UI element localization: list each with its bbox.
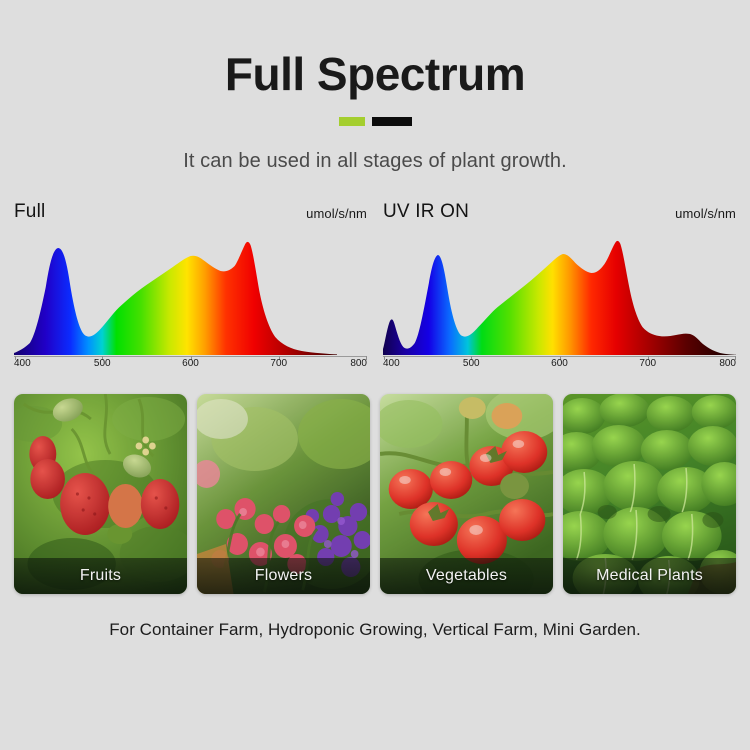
axis-tick-800: 800: [719, 358, 736, 369]
chart-header: UV IR ON umol/s/nm: [383, 201, 736, 227]
spectrum-chart-full: Full umol/s/nm: [14, 201, 367, 372]
divider-black-bar: [372, 117, 412, 126]
footer-text: For Container Farm, Hydroponic Growing, …: [0, 620, 750, 640]
divider-green-bar: [339, 117, 365, 126]
chart-header: Full umol/s/nm: [14, 201, 367, 227]
spectrum-charts: Full umol/s/nm: [0, 201, 750, 372]
chart-title: UV IR ON: [383, 201, 469, 223]
application-cards: Fruits: [0, 394, 750, 594]
chart-plot-area: [14, 235, 367, 355]
axis-tick-400: 400: [14, 358, 31, 369]
card-fruits[interactable]: Fruits: [14, 394, 187, 594]
card-caption: Medical Plants: [563, 558, 736, 594]
promo-page: Full Spectrum It can be used in all stag…: [0, 0, 750, 750]
page-subtitle: It can be used in all stages of plant gr…: [0, 150, 750, 173]
axis-tick-500: 500: [94, 358, 111, 369]
axis-tick-600: 600: [551, 358, 568, 369]
axis-tick-800: 800: [350, 358, 367, 369]
axis-tick-600: 600: [182, 358, 199, 369]
chart-x-axis: 400 500 600 700 800: [14, 356, 367, 372]
axis-tick-700: 700: [639, 358, 656, 369]
card-caption: Fruits: [14, 558, 187, 594]
spectrum-curve: [14, 235, 367, 355]
chart-x-axis: 400 500 600 700 800: [383, 356, 736, 372]
card-caption: Vegetables: [380, 558, 553, 594]
divider: [0, 117, 750, 126]
card-medical-plants[interactable]: Medical Plants: [563, 394, 736, 594]
axis-tick-700: 700: [270, 358, 287, 369]
card-vegetables[interactable]: Vegetables: [380, 394, 553, 594]
card-caption: Flowers: [197, 558, 370, 594]
spectrum-chart-uv-ir-on: UV IR ON umol/s/nm: [383, 201, 736, 372]
card-flowers[interactable]: Flowers: [197, 394, 370, 594]
chart-unit-label: umol/s/nm: [675, 201, 736, 221]
page-title: Full Spectrum: [0, 0, 750, 98]
chart-plot-area: [383, 235, 736, 355]
chart-title: Full: [14, 201, 45, 223]
axis-tick-500: 500: [463, 358, 480, 369]
spectrum-curve: [383, 235, 736, 355]
axis-tick-400: 400: [383, 358, 400, 369]
chart-unit-label: umol/s/nm: [306, 201, 367, 221]
